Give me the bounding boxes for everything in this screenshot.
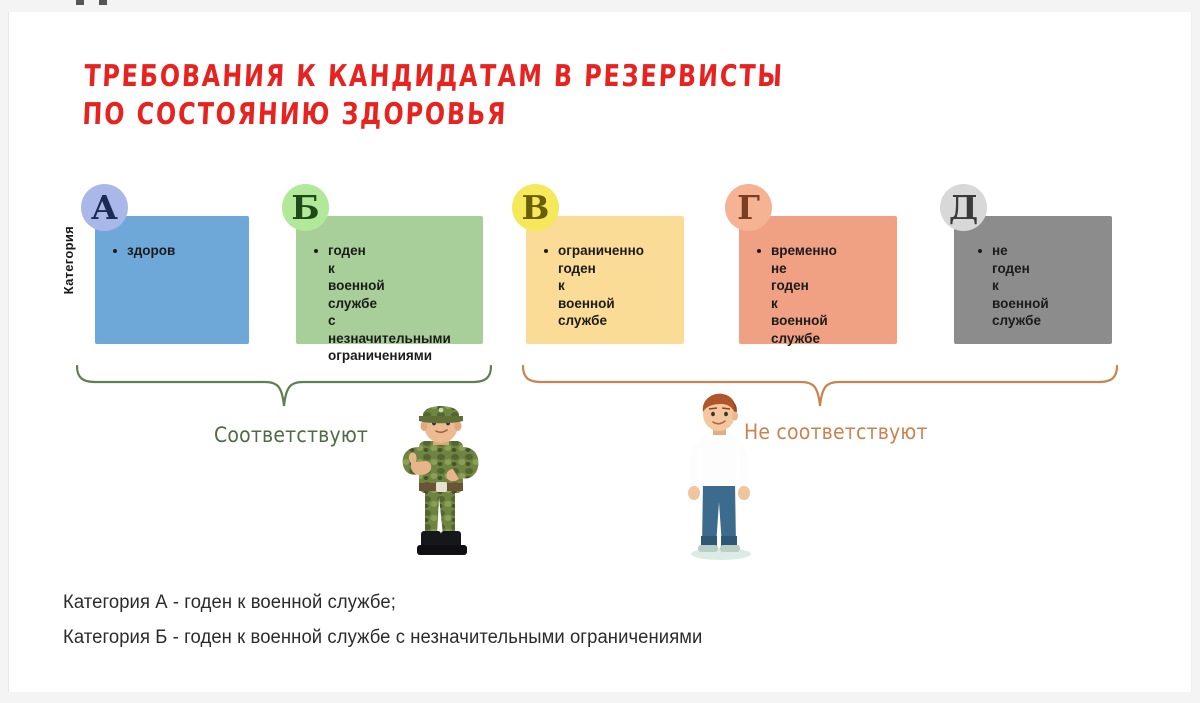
axis-label-category: Категория [61, 226, 76, 294]
category-box-a [95, 216, 249, 344]
cropped-text-remnant [76, 0, 84, 5]
list-item: не годен к военной службе [972, 242, 992, 330]
caption-line-b: Категория Б - годен к военной службе с н… [63, 627, 702, 649]
list-item: годен к военной службе с незначительными… [314, 242, 328, 365]
brace-nonmatching [521, 362, 1121, 410]
brace-label-nonmatching: Не соответствуют [744, 420, 928, 444]
cropped-text-remnant [99, 0, 107, 5]
page-title: ТРЕБОВАНИЯ К КАНДИДАТАМ В РЕЗЕРВИСТЫ ПО … [81, 58, 877, 134]
brace-label-matching: Соответствуют [214, 423, 368, 447]
list-item: здоров [113, 242, 127, 260]
infographic-card: ТРЕБОВАНИЯ К КАНДИДАТАМ В РЕЗЕРВИСТЫ ПО … [8, 12, 1192, 692]
category-badge-g: Г [725, 184, 772, 231]
category-badge-a: А [81, 184, 128, 231]
category-badge-b: Б [282, 184, 329, 231]
list-item: временно не годен к военной службе [757, 242, 771, 347]
page-root: ТРЕБОВАНИЯ К КАНДИДАТАМ В РЕЗЕРВИСТЫ ПО … [0, 0, 1200, 703]
soldier-thumbs-up-figure [381, 397, 501, 572]
caption-line-a: Категория А - годен к военной службе; [63, 592, 396, 614]
category-badge-d: Д [940, 184, 987, 231]
list-item: ограниченно годен к военной службе [544, 242, 558, 330]
category-badge-v: В [512, 184, 559, 231]
civilian-man-figure [671, 390, 771, 570]
